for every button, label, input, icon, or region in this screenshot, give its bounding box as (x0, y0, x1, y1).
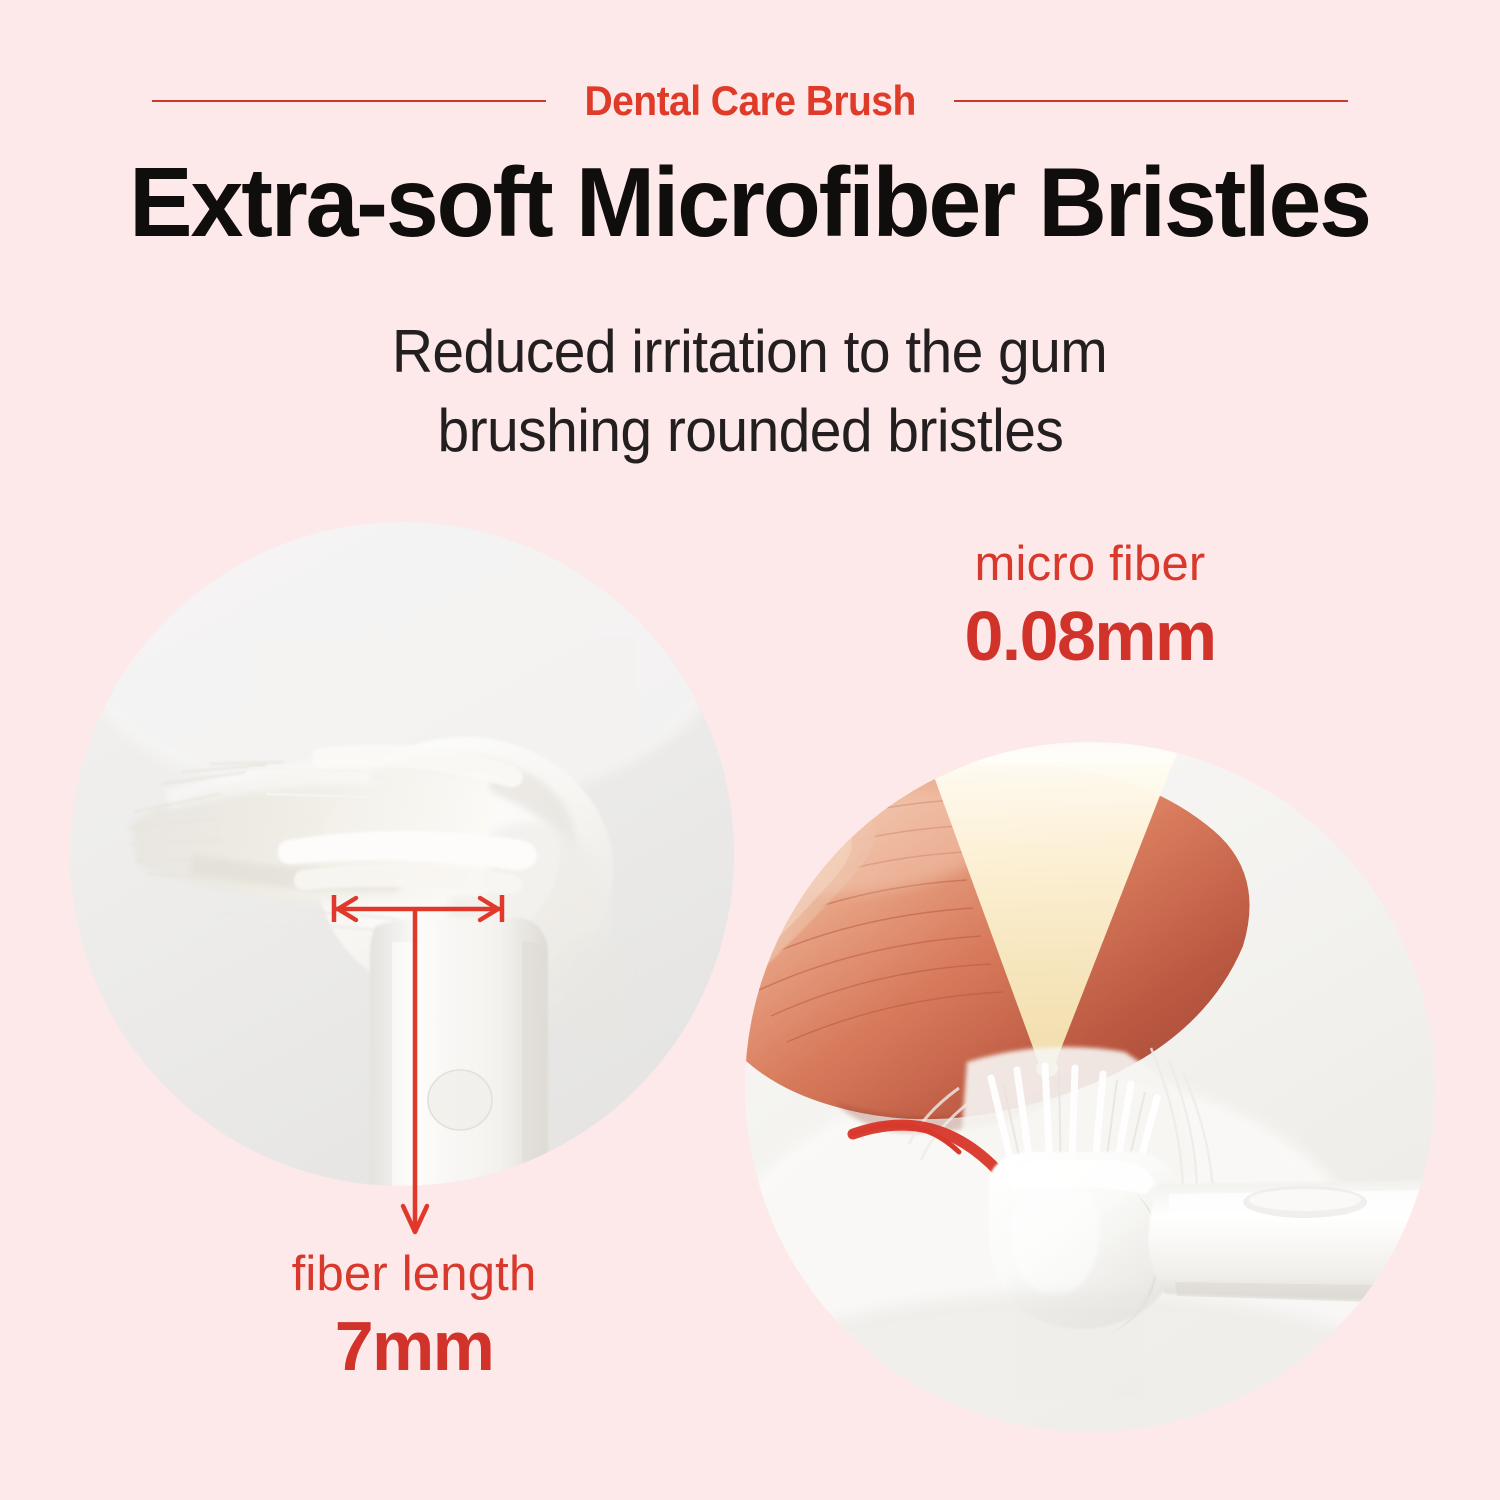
fiber-length-callout: fiber length 7mm (174, 1248, 654, 1385)
page-title-text: Extra-soft Microfiber Bristles (130, 152, 1371, 254)
eyebrow-rule-left (152, 100, 546, 102)
subtitle-line-2: brushing rounded bristles (0, 391, 1500, 470)
toothbrush-head-closeup-photo (70, 522, 734, 1186)
brush-handle-arm (1148, 1180, 1435, 1304)
page-subtitle: Reduced irritation to the gum brushing r… (0, 312, 1500, 470)
page-title: Extra-soft Microfiber Bristles (0, 152, 1500, 254)
micro-fiber-value: 0.08mm (850, 597, 1330, 675)
fiber-length-value: 7mm (174, 1307, 654, 1385)
fingertip-pressing-bristles-photo (745, 742, 1435, 1432)
infographic-canvas: Dental Care Brush Extra-soft Microfiber … (0, 0, 1500, 1500)
right-product-photo-circle (745, 742, 1435, 1432)
left-product-photo-circle (70, 522, 734, 1186)
micro-fiber-callout: micro fiber 0.08mm (850, 538, 1330, 675)
eyebrow-row: Dental Care Brush (0, 72, 1500, 130)
subtitle-line-1: Reduced irritation to the gum (0, 312, 1500, 391)
micro-fiber-label: micro fiber (850, 538, 1330, 591)
eyebrow-label: Dental Care Brush (584, 77, 915, 125)
eyebrow-rule-right (954, 100, 1348, 102)
fiber-length-label: fiber length (174, 1248, 654, 1301)
